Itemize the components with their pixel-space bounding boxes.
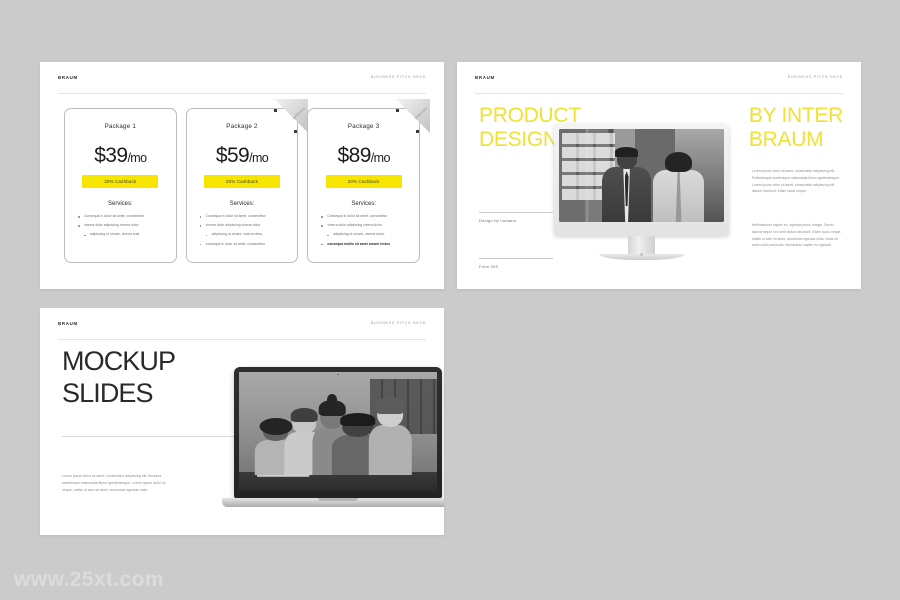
person-body (369, 425, 411, 475)
slide-title: MOCKUP SLIDES (62, 346, 175, 409)
package-price: $89/mo (315, 145, 412, 166)
site-watermark: www.25xt.com (14, 568, 164, 592)
pricing-card[interactable]: SPECIAL Package 2 $59/mo 20% Cashback Se… (186, 108, 299, 263)
headline-right: BY INTER BRAUM (749, 104, 843, 151)
price-amount: $89 (338, 144, 371, 167)
price-amount: $39 (94, 144, 127, 167)
meta-design-by: Design by humans (479, 212, 553, 223)
desktop-monitor-mockup (554, 124, 729, 260)
header-divider (58, 339, 426, 340)
service-item: adipiscing ut ornare, viverra dolor, (321, 233, 412, 237)
services-list: Consequa in dolor sit amet, consectetur … (194, 215, 291, 246)
service-item: viverra dolor adipiscing viverra dolor (200, 224, 291, 228)
package-title: Package 1 (72, 123, 169, 130)
pricing-card-group: Package 1 $39/mo 20% Cashback Services: … (64, 108, 420, 263)
meta-form-number: Form 209 (479, 258, 553, 269)
service-item: Consequa in dolor sit amet, consectetur (321, 215, 412, 219)
meta-divider (479, 258, 553, 259)
brand-logo: BRAUM (58, 321, 78, 326)
brand-logo: BRAUM (58, 75, 78, 80)
monitor-logo-dot (640, 253, 643, 256)
service-item-highlighted: consequa mollis sit amet ornare lectus (321, 243, 412, 247)
laptop-mockup (234, 367, 444, 507)
person-hair (615, 147, 638, 156)
meta-form-text: Form 209 (479, 264, 553, 269)
header-divider (58, 93, 426, 94)
person-hair (340, 413, 375, 427)
package-title: Package 3 (315, 123, 412, 130)
ribbon-corner-mark (416, 130, 419, 133)
person-woman (653, 153, 704, 222)
laptop-camera-icon (337, 374, 339, 376)
services-heading: Services: (72, 201, 169, 207)
person-hair (259, 418, 292, 435)
slide-header: BRAUM BUSINESS PITCH DECK (40, 62, 444, 92)
person-hair-bun (327, 394, 337, 405)
header-divider (475, 93, 843, 94)
slide-mockup-slides[interactable]: BRAUM BUSINESS PITCH DECK MOCKUP SLIDES … (40, 308, 444, 535)
service-item: Consequa in dolor sit amet, consectetur (78, 215, 169, 219)
meta-divider (479, 212, 553, 213)
monitor-stand-neck (628, 236, 655, 254)
presentation-preview-canvas: BRAUM BUSINESS PITCH DECK Package 1 $39/… (0, 0, 900, 600)
ribbon-label: SPECIAL (414, 106, 429, 121)
price-period: /mo (127, 151, 146, 165)
person-hair (291, 408, 318, 423)
cashback-badge: 20% Cashback (326, 175, 402, 188)
laptop-screen (239, 372, 437, 491)
service-item: adipiscing ut ornare, viverra dolor, (200, 233, 291, 237)
price-period: /mo (249, 151, 268, 165)
meta-design-text: Design by humans (479, 218, 553, 223)
slide-header: BRAUM BUSINESS PITCH DECK (40, 308, 444, 338)
service-item: viverra dolor adipiscing viverra dolor (78, 224, 169, 228)
service-item: adipiscing ut ornare, viverra cras (78, 233, 169, 237)
person-hair (665, 152, 692, 173)
services-heading: Services: (194, 201, 291, 207)
body-paragraph: Lorem ipsum dolor sit amet, consectetur … (62, 473, 176, 494)
ribbon-label: SPECIAL (292, 106, 307, 121)
laptop-base (222, 498, 444, 507)
pricing-card[interactable]: Package 1 $39/mo 20% Cashback Services: … (64, 108, 177, 263)
deck-label: BUSINESS PITCH DECK (788, 75, 843, 79)
package-price: $39/mo (72, 145, 169, 166)
service-item: consequa in dolor sit amet, consectetur (200, 243, 291, 247)
person-man (602, 149, 652, 222)
pricing-card[interactable]: SPECIAL Package 3 $89/mo 20% Cashback Se… (307, 108, 420, 263)
services-heading: Services: (315, 201, 412, 207)
monitor-bezel (554, 124, 729, 236)
ribbon-corner-mark (294, 130, 297, 133)
price-period: /mo (371, 151, 390, 165)
laptop-hinge-notch (318, 498, 358, 501)
deck-label: BUSINESS PITCH DECK (371, 75, 426, 79)
laptop-lid (234, 367, 442, 498)
body-paragraph-one: Lorem ipsum dolor sit amet, consectetur … (752, 168, 843, 195)
person-four (378, 403, 404, 474)
monitor-screen (559, 129, 724, 222)
slide-product-design[interactable]: BRAUM BUSINESS PITCH DECK PRODUCT DESIGN… (457, 62, 861, 289)
services-list: Consequa in dolor sit amet, consectetur … (72, 215, 169, 237)
cashback-badge: 20% Cashback (204, 175, 280, 188)
person-hair (376, 397, 405, 414)
cashback-badge: 20% Cashback (82, 175, 158, 188)
ribbon-corner-mark (274, 109, 277, 112)
slide-header: BRAUM BUSINESS PITCH DECK (457, 62, 861, 92)
brand-logo: BRAUM (475, 75, 495, 80)
ribbon-corner-mark (396, 109, 399, 112)
package-title: Package 2 (194, 123, 291, 130)
service-item: Consequa in dolor sit amet, consectetur (200, 215, 291, 219)
service-item: viverra dolor adipiscing viverra dolor (321, 224, 412, 228)
package-price: $59/mo (194, 145, 291, 166)
body-paragraph-two: Hellemarkum sapien eu, egestas purus int… (752, 222, 843, 249)
price-amount: $59 (216, 144, 249, 167)
services-list: Consequa in dolor sit amet, consectetur … (315, 215, 412, 246)
slide-pricing[interactable]: BRAUM BUSINESS PITCH DECK Package 1 $39/… (40, 62, 444, 289)
deck-label: BUSINESS PITCH DECK (371, 321, 426, 325)
